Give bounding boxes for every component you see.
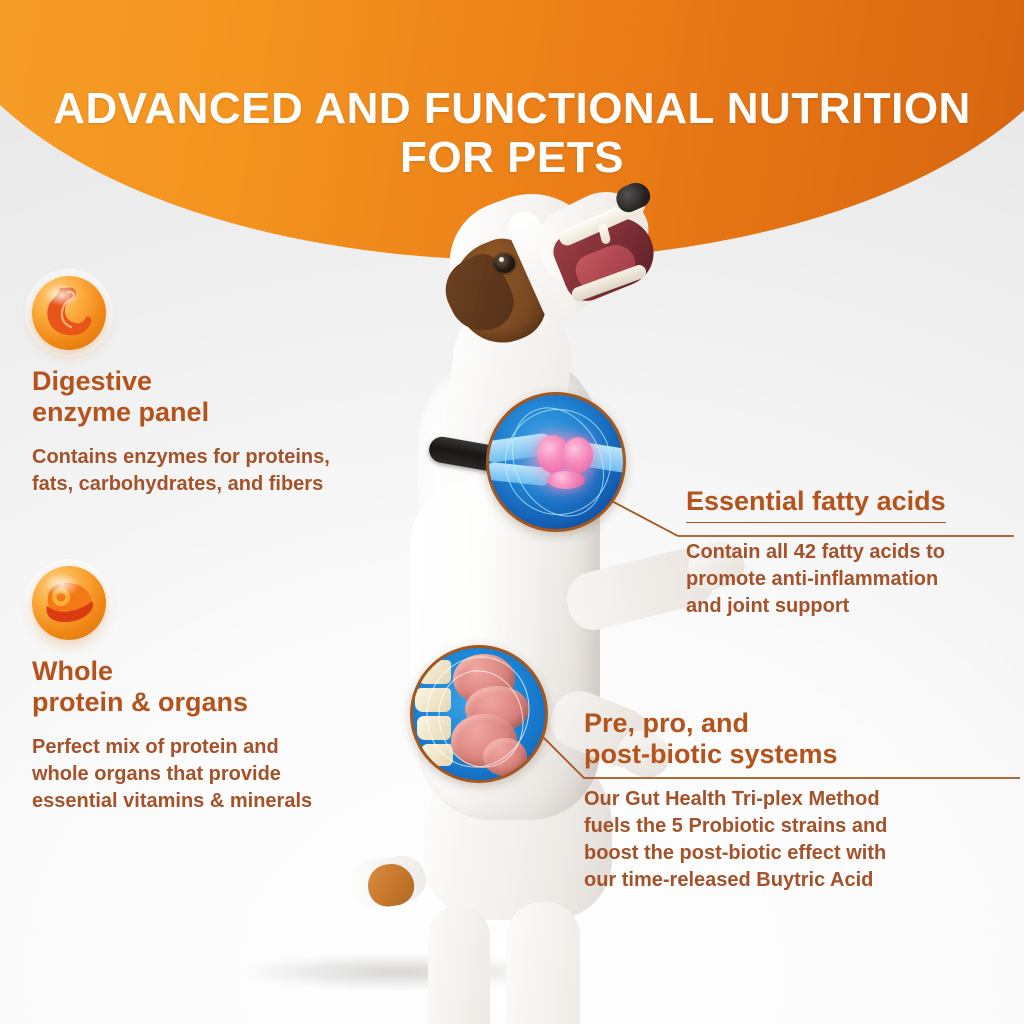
- pet-nutrition-infographic: ORIGIN Tender 100% BEEF BLEND GRAIN FREE…: [0, 0, 1024, 1024]
- page-headline: ADVANCED AND FUNCTIONAL NUTRITION FOR PE…: [0, 84, 1024, 182]
- stomach-icon: [32, 276, 106, 350]
- feature-pre-pro-post-biotic: Pre, pro, and post-biotic systems Our Gu…: [584, 708, 984, 894]
- dog-eye: [494, 254, 515, 273]
- feature-body: Our Gut Health Tri-plex Method fuels the…: [584, 786, 984, 894]
- feature-body: Contain all 42 fatty acids to promote an…: [686, 539, 1016, 620]
- meat-organ-glyph: [32, 566, 106, 640]
- joint-xray-icon: [486, 392, 626, 532]
- dog-hind-leg-left: [428, 906, 490, 1024]
- feature-body: Perfect mix of protein and whole organs …: [32, 734, 392, 815]
- stomach-glyph: [32, 276, 106, 350]
- feature-essential-fatty-acids: Essential fatty acids Contain all 42 fat…: [686, 486, 1016, 620]
- meat-organ-icon: [32, 566, 106, 640]
- joint-orbit-ring: [494, 392, 621, 532]
- feature-title: Pre, pro, and post-biotic systems: [584, 708, 984, 770]
- feature-body: Contains enzymes for proteins, fats, car…: [32, 444, 392, 498]
- feature-title: Essential fatty acids: [686, 486, 946, 523]
- feature-digestive-enzyme-panel: Digestive enzyme panel Contains enzymes …: [32, 276, 392, 498]
- dog-hind-leg-right: [506, 902, 580, 1024]
- feature-title: Whole protein & organs: [32, 656, 392, 718]
- intestine-icon: [410, 645, 548, 783]
- feature-whole-protein-organs: Whole protein & organs Perfect mix of pr…: [32, 566, 392, 815]
- feature-title: Digestive enzyme panel: [32, 366, 392, 428]
